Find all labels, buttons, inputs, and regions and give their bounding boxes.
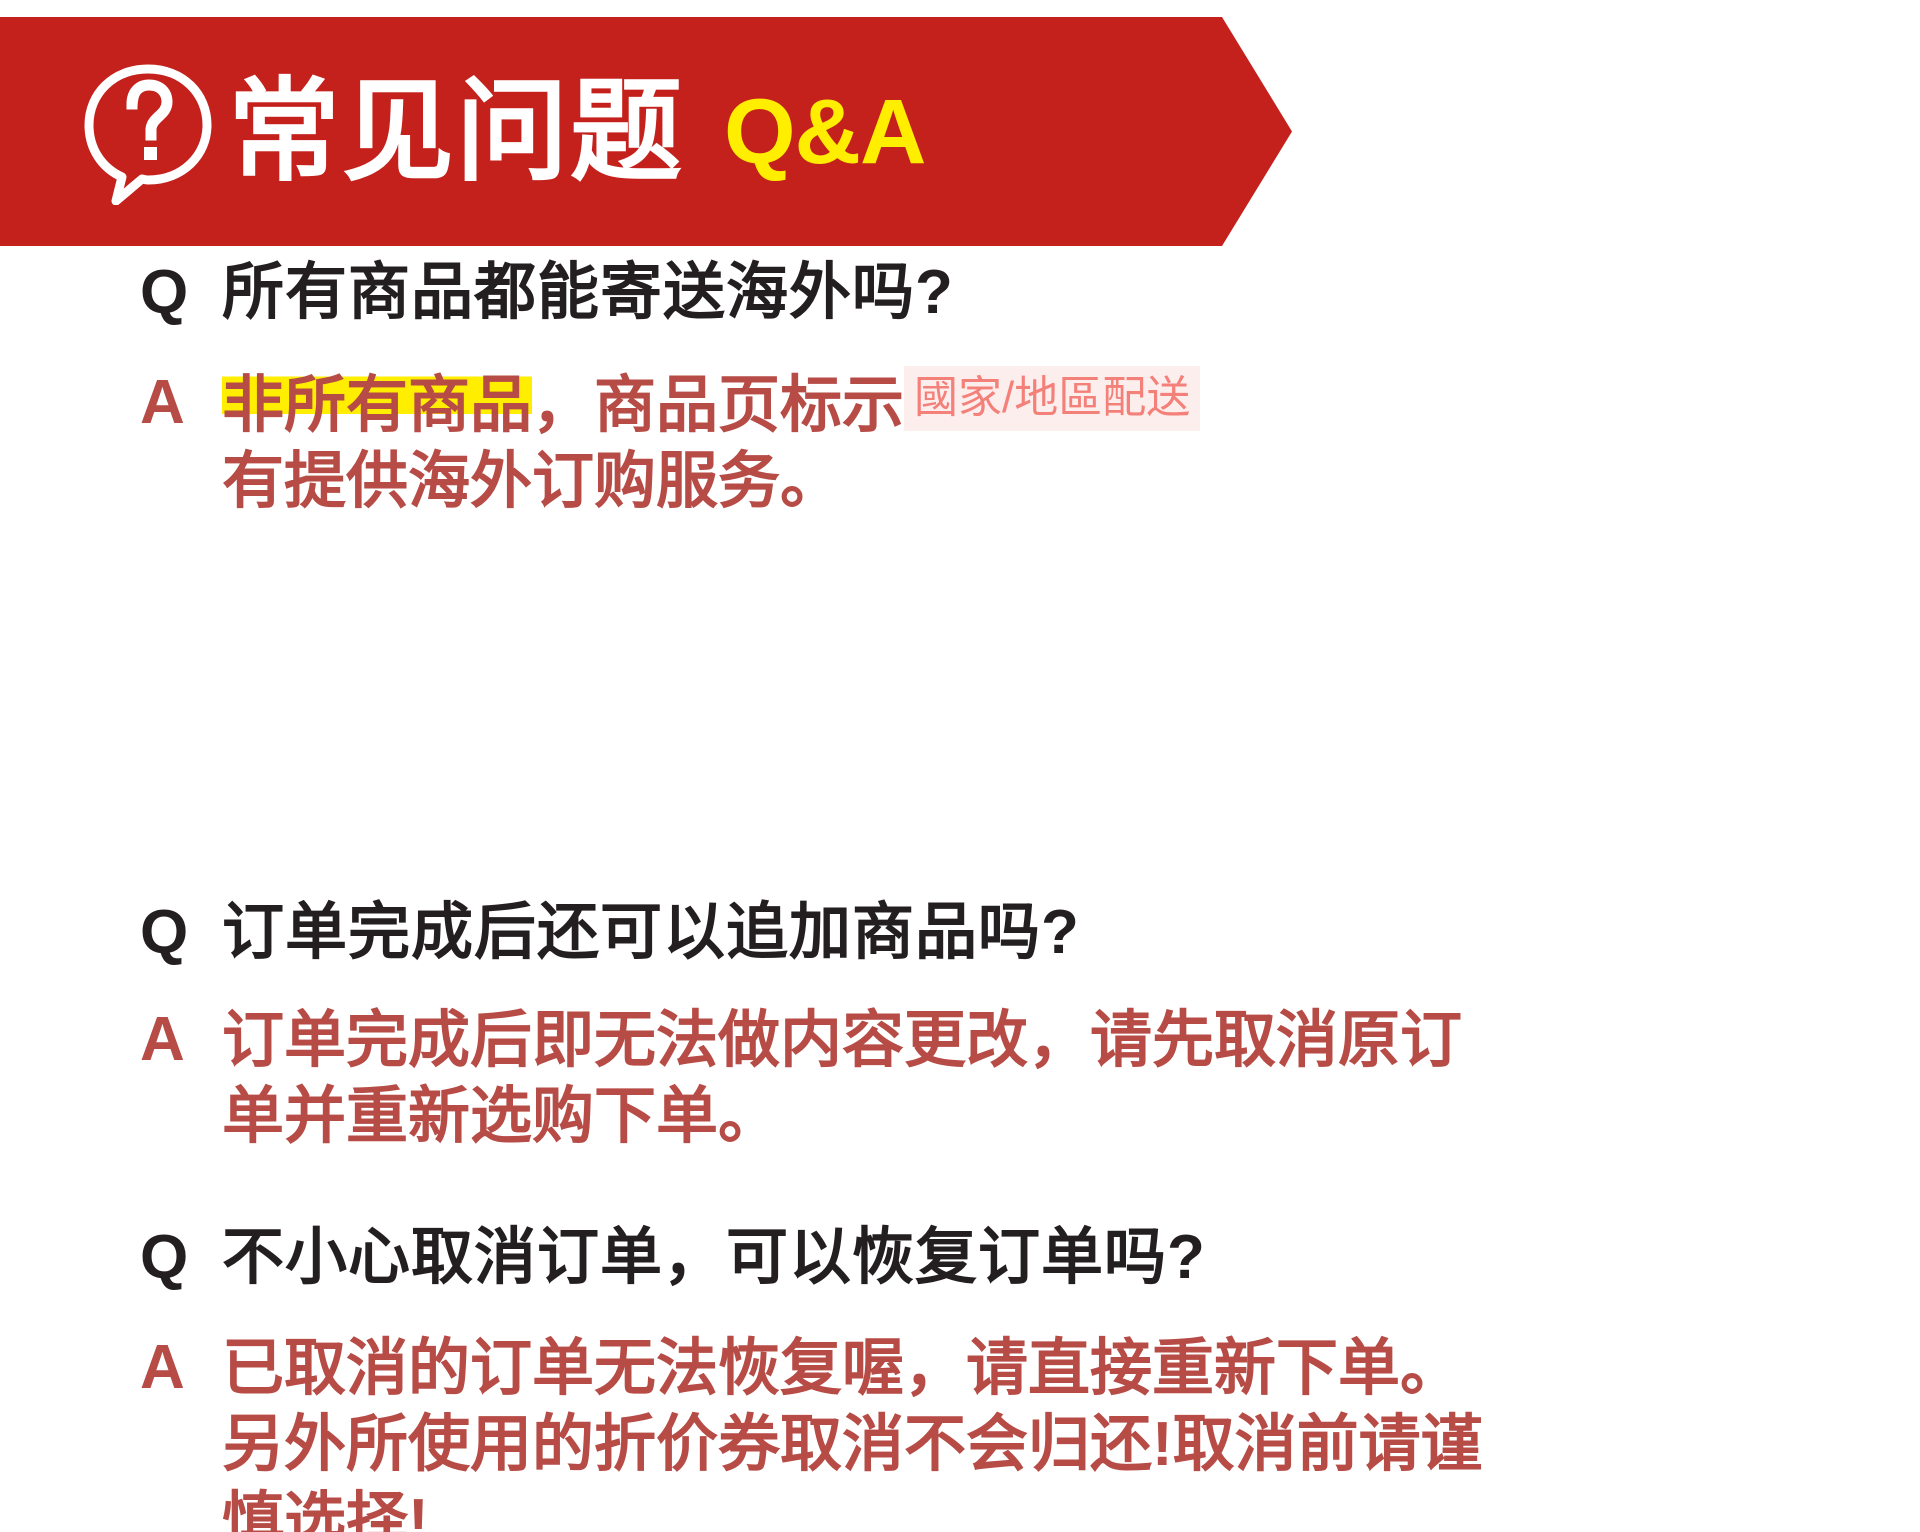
answer-row-1: A 非所有商品，商品页标示國家/地區配送 有提供海外订购服务。 [140,366,1200,521]
banner-content: 常见问题 Q&A [0,17,925,246]
question-marker: Q [140,896,222,969]
question-marker: Q [140,1221,222,1294]
faq-list: Q 所有商品都能寄送海外吗? A 非所有商品，商品页标示國家/地區配送 有提供海… [0,246,1920,571]
faq-item-1: Q 所有商品都能寄送海外吗? A 非所有商品，商品页标示國家/地區配送 有提供海… [0,246,1920,571]
answer-line-2: 单并重新选购下单。 [222,1082,780,1151]
question-text-2: 订单完成后还可以追加商品吗? [222,896,1080,969]
question-marker: Q [140,256,222,329]
answer-highlighted-phrase: 非所有商品 [222,371,532,440]
answer-line-2: 有提供海外订购服务。 [222,447,842,516]
answer-line-2: 另外所使用的折价券取消不会归还!取消前请谨 [222,1410,1483,1479]
answer-row-2: A 订单完成后即无法做内容更改，请先取消原订 单并重新选购下单。 [140,1003,1462,1156]
question-row-3: Q 不小心取消订单，可以恢复订单吗? [140,1221,1206,1294]
answer-line-1: 订单完成后即无法做内容更改，请先取消原订 [222,1006,1462,1075]
answer-text-3: 已取消的订单无法恢复喔，请直接重新下单。 另外所使用的折价券取消不会归还!取消前… [222,1331,1483,1532]
question-text-3: 不小心取消订单，可以恢复订单吗? [222,1221,1206,1294]
answer-text-1: 非所有商品，商品页标示國家/地區配送 有提供海外订购服务。 [222,366,1200,521]
answer-text-2: 订单完成后即无法做内容更改，请先取消原订 单并重新选购下单。 [222,1003,1462,1156]
question-speech-bubble-icon [82,63,214,205]
question-row-2: Q 订单完成后还可以追加商品吗? [140,896,1080,969]
answer-marker: A [140,1331,222,1404]
answer-line-3: 慎选择! [222,1487,429,1532]
question-row-1: Q 所有商品都能寄送海外吗? [140,256,954,329]
country-region-delivery-badge: 國家/地區配送 [904,366,1200,431]
answer-marker: A [140,366,222,439]
answer-marker: A [140,1003,222,1076]
answer-line-1: 已取消的订单无法恢复喔，请直接重新下单。 [222,1334,1462,1403]
question-text-1: 所有商品都能寄送海外吗? [222,256,954,329]
answer-part-1: ，商品页标示 [532,371,904,440]
faq-page: 常见问题 Q&A Q 所有商品都能寄送海外吗? A 非所有商品，商品页标示國家/… [0,0,1920,1532]
banner-title: 常见问题 [228,76,684,188]
banner-subtitle: Q&A [724,86,925,178]
faq-banner: 常见问题 Q&A [0,17,1292,246]
answer-row-3: A 已取消的订单无法恢复喔，请直接重新下单。 另外所使用的折价券取消不会归还!取… [140,1331,1483,1532]
